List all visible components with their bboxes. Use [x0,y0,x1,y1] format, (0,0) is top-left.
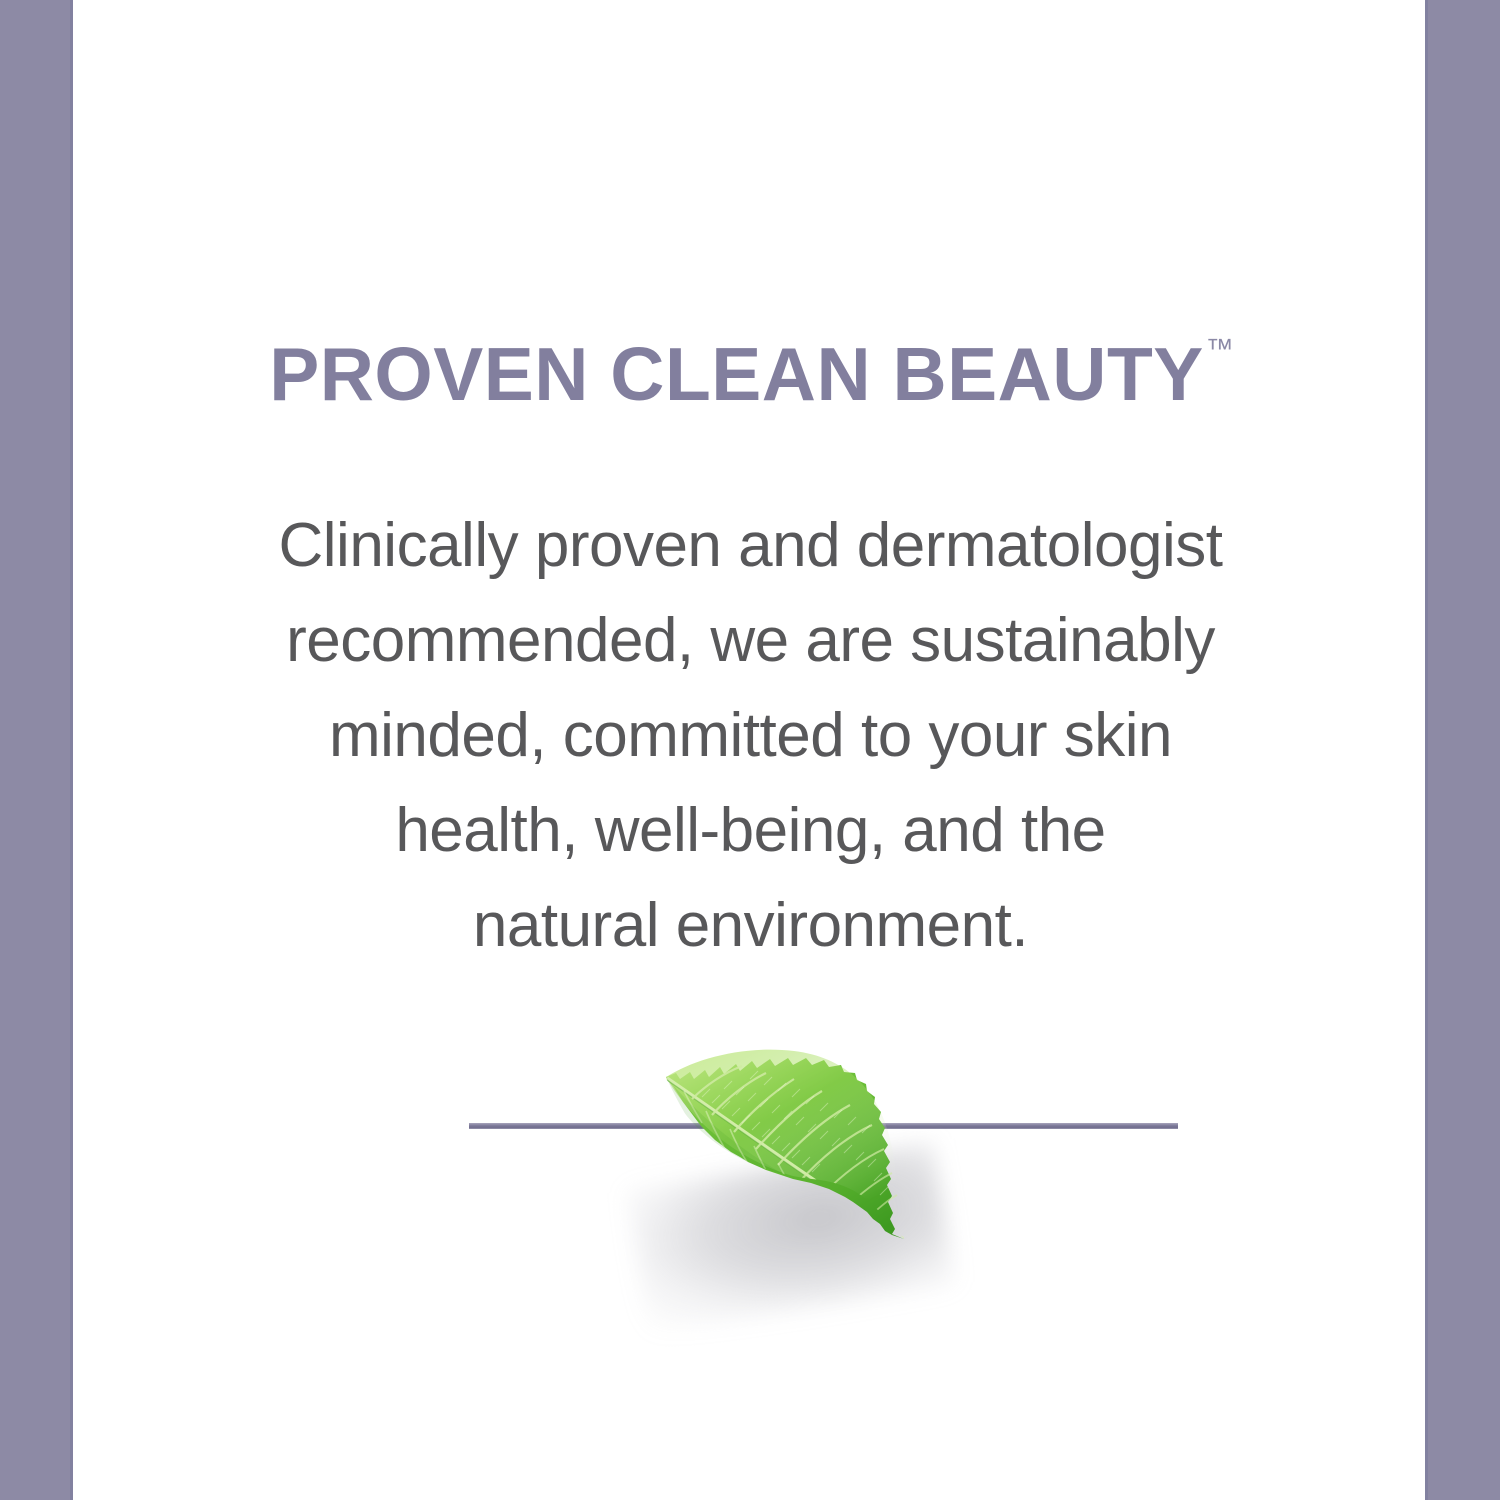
leaf-icon [654,1039,954,1259]
leaf-blade [666,1050,904,1241]
page-title-text: PROVEN CLEAN BEAUTY [269,332,1204,416]
promo-panel: PROVEN CLEAN BEAUTY™ Clinically proven a… [0,0,1500,1500]
body-line-2: recommended, we are sustainably [161,593,1341,688]
trademark-symbol: ™ [1206,333,1234,364]
body-copy: Clinically proven and dermatologist reco… [161,498,1341,973]
body-line-1: Clinically proven and dermatologist [161,498,1341,593]
body-line-4: health, well-being, and the [161,783,1341,878]
content-card: PROVEN CLEAN BEAUTY™ Clinically proven a… [76,0,1425,1500]
leaf-icon-svg [654,1039,954,1259]
leaf-emblem [76,1015,1425,1355]
right-purple-band [1425,0,1500,1500]
left-purple-band [0,0,73,1500]
page-title: PROVEN CLEAN BEAUTY™ [76,337,1425,412]
body-line-5: natural environment. [161,878,1341,973]
body-line-3: minded, committed to your skin [161,688,1341,783]
